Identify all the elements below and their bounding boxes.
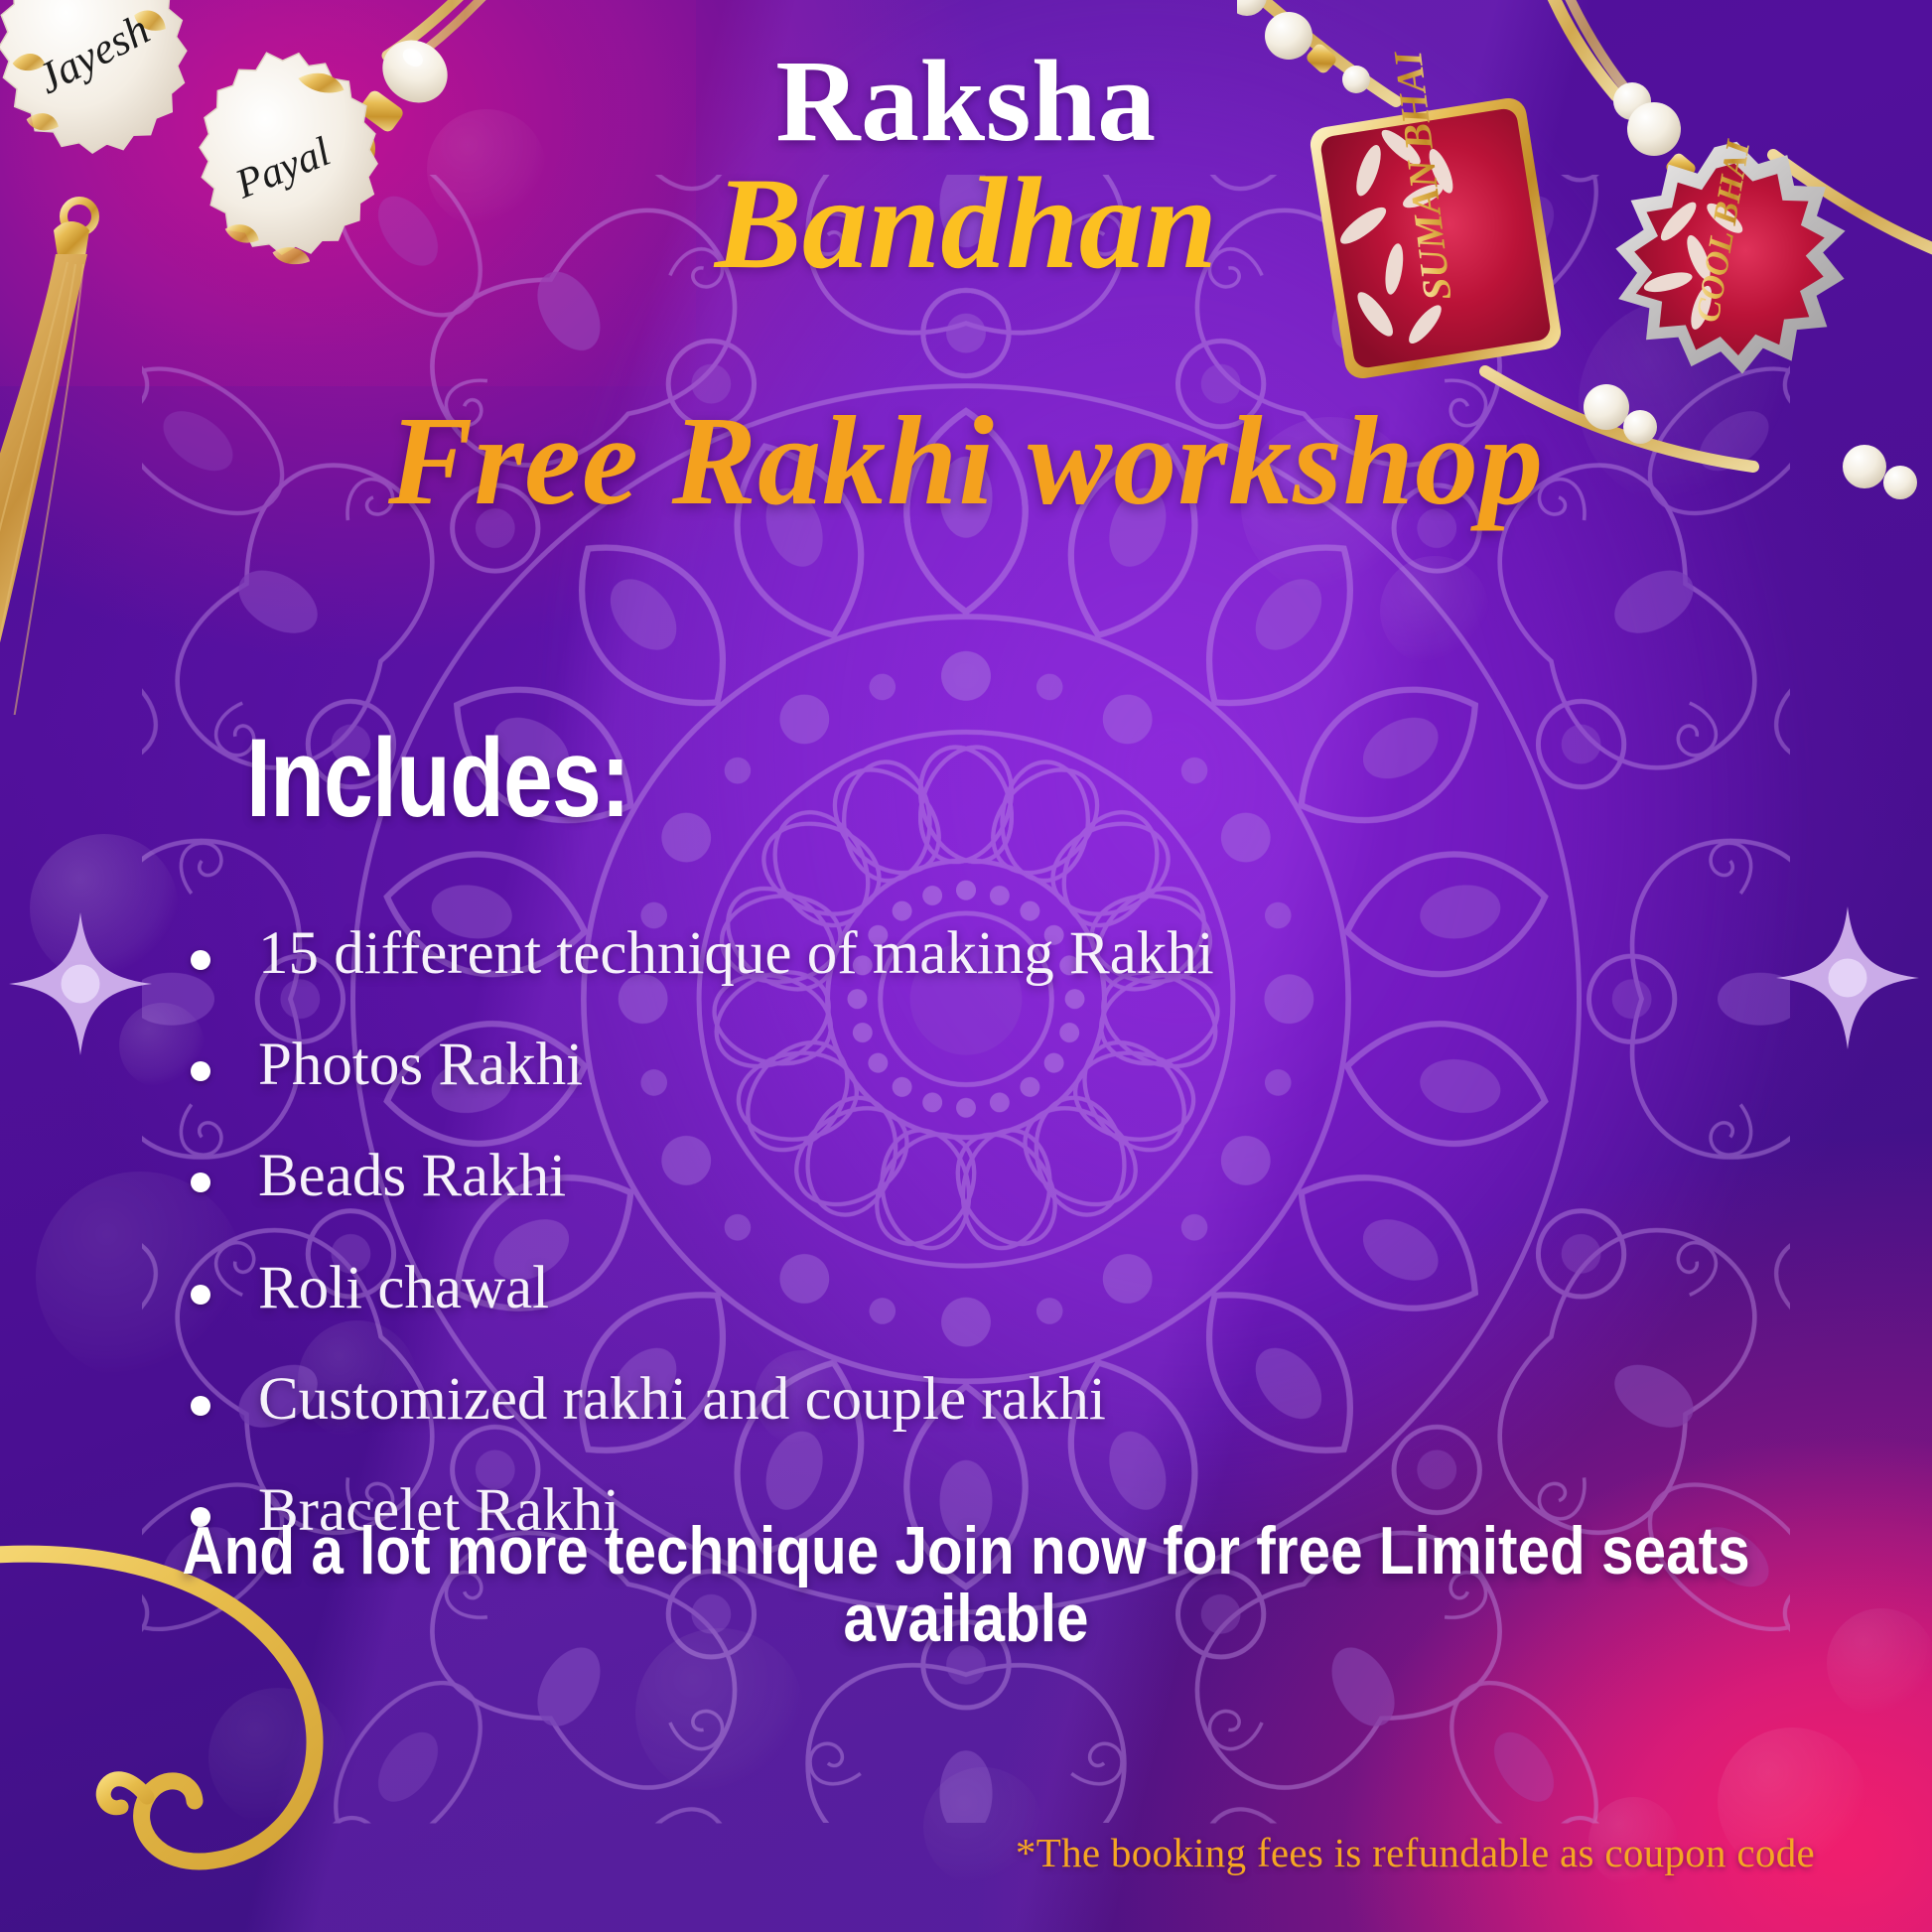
list-item-label: Customized rakhi and couple rakhi	[258, 1366, 1106, 1433]
includes-list: 15 different technique of making Rakhi P…	[177, 923, 1666, 1591]
list-item: Customized rakhi and couple rakhi	[177, 1369, 1666, 1431]
bullet-dot-icon	[191, 1061, 210, 1081]
bullet-dot-icon	[191, 1285, 210, 1305]
bullet-dot-icon	[191, 1173, 210, 1192]
list-item: Beads Rakhi	[177, 1146, 1666, 1207]
list-item-label: Roli chawal	[258, 1255, 549, 1321]
list-item-label: Photos Rakhi	[258, 1032, 583, 1098]
poster-title: Raksha Bandhan	[0, 46, 1932, 287]
list-item: Photos Rakhi	[177, 1035, 1666, 1096]
list-item: 15 different technique of making Rakhi	[177, 923, 1666, 985]
list-item-label: 15 different technique of making Rakhi	[258, 920, 1214, 987]
poster-subtitle: Free Rakhi workshop	[0, 397, 1932, 524]
list-item: Roli chawal	[177, 1258, 1666, 1319]
includes-heading: Includes:	[246, 723, 629, 834]
title-line-bandhan: Bandhan	[0, 159, 1932, 287]
poster-footnote: *The booking fees is refundable as coupo…	[1016, 1829, 1815, 1876]
list-item-label: Beads Rakhi	[258, 1143, 566, 1209]
poster-root: Jayesh Payal	[0, 0, 1932, 1932]
bullet-dot-icon	[191, 1396, 210, 1416]
title-line-raksha: Raksha	[0, 46, 1932, 157]
bullet-dot-icon	[191, 950, 210, 970]
poster-tagline: And a lot more technique Join now for fr…	[135, 1517, 1797, 1652]
